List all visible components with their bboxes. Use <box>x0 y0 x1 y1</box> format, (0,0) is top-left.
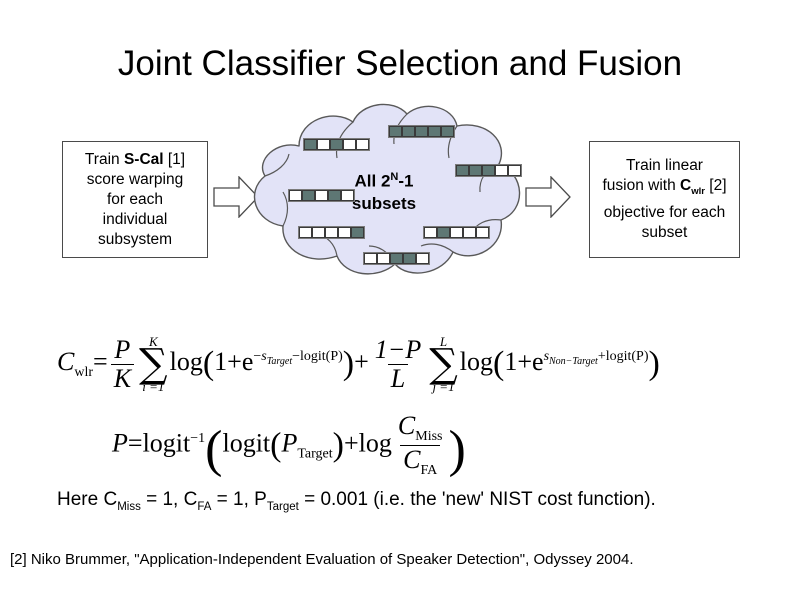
formula2-fraction-cmiss-over-cfa: CMissCFA <box>395 412 446 479</box>
formula2-log: log <box>359 428 392 457</box>
subset-cell-empty <box>424 227 437 238</box>
strip-top-center <box>388 125 455 138</box>
cloud-label-line1-suffix: -1 <box>398 172 413 191</box>
formula1-frac1-den: K <box>111 364 134 393</box>
subset-cell-selected <box>469 165 482 176</box>
strip-bottom-center <box>363 252 430 265</box>
slide-canvas: Joint Classifier Selection and Fusion Tr… <box>0 0 800 599</box>
here-sub-fa: FA <box>197 501 211 513</box>
formula2-frac-num-sub: Miss <box>415 429 442 444</box>
right-box-line2-bold: C <box>680 177 691 194</box>
formula2-logit-inv: logit <box>143 428 191 457</box>
subset-cell-empty <box>289 190 302 201</box>
parameter-values-line: Here CMiss = 1, CFA = 1, PTarget = 0.001… <box>57 489 656 513</box>
formula2-frac-num: CMiss <box>395 412 446 445</box>
subset-cell-selected <box>330 139 343 150</box>
formula1-exp1: −sTarget−logit(P) <box>253 349 342 364</box>
subset-cell-selected <box>302 190 315 201</box>
subset-cell-empty <box>341 190 354 201</box>
subset-cell-selected <box>351 227 364 238</box>
subset-cell-selected <box>304 139 317 150</box>
here-suffix: = 0.001 (i.e. the 'new' NIST cost functi… <box>299 489 656 510</box>
subset-cell-empty <box>364 253 377 264</box>
subset-cell-selected <box>456 165 469 176</box>
formula1-exp1-rest: −logit(P) <box>292 349 343 364</box>
formula2-lhs: P <box>112 428 128 457</box>
formula1-open-paren2: ( <box>493 345 504 382</box>
subset-cell-selected <box>441 126 454 137</box>
subset-cell-selected <box>415 126 428 137</box>
subset-cell-empty <box>463 227 476 238</box>
formula2-close-paren: ) <box>448 421 465 478</box>
formula-p: P=logit−1(logit(PTarget)+logCMissCFA) <box>112 412 466 479</box>
formula1-exp2-rest: +logit(P) <box>598 349 649 364</box>
formula1-log1: log <box>170 347 203 376</box>
formula2-open-paren: ( <box>205 421 222 478</box>
strip-mid-left <box>288 189 355 202</box>
subset-cell-empty <box>299 227 312 238</box>
formula1-close-paren2: ) <box>649 345 660 382</box>
formula1-sum2: L∑j =1 <box>429 335 458 393</box>
subset-cell-selected <box>390 253 403 264</box>
left-box-line4: individual <box>103 211 168 228</box>
arrow-right-block-right <box>525 176 571 223</box>
formula1-log2: log <box>460 347 493 376</box>
here-mid1: = 1, C <box>141 489 198 510</box>
formula1-frac2-num: 1−P <box>372 336 424 364</box>
subset-cell-empty <box>317 139 330 150</box>
formula2-equals: = <box>128 428 143 457</box>
left-box-line5: subsystem <box>98 231 172 248</box>
arrow-right-icon <box>525 176 571 218</box>
subset-cell-selected <box>328 190 341 201</box>
right-box-line2-subscript: wlr <box>691 187 705 198</box>
subset-cell-empty <box>495 165 508 176</box>
here-mid2: = 1, P <box>211 489 266 510</box>
formula2-frac-num-sym: C <box>398 411 415 440</box>
formula1-onepluse1: 1+e <box>214 347 253 376</box>
formula1-open-paren1: ( <box>203 345 214 382</box>
formula1-fraction-1mp-over-l: 1−PL <box>372 336 424 392</box>
right-box-line1: Train linear <box>626 157 703 174</box>
subset-cell-selected <box>403 253 416 264</box>
footnote-reference: [2] Niko Brummer, "Application-Independe… <box>10 551 634 568</box>
here-prefix: Here C <box>57 489 117 510</box>
right-box-line2-prefix: fusion with <box>602 177 680 194</box>
cloud-label-line1-prefix: All 2 <box>355 172 391 191</box>
left-process-box: Train S-Cal [1] score warping for each i… <box>62 141 208 258</box>
formula1-exp1-label: Target <box>267 356 292 367</box>
strip-bottom-left <box>298 226 365 239</box>
sigma-icon: ∑ <box>139 348 168 380</box>
formula1-close-paren1: ) <box>343 345 354 382</box>
left-box-line1-bold: S-Cal <box>124 151 164 168</box>
formula2-inner-logit: logit <box>222 428 270 457</box>
formula2-frac-den-sym: C <box>403 445 420 474</box>
formula2-inv-exponent: −1 <box>190 431 205 446</box>
subset-cell-empty <box>508 165 521 176</box>
here-sub-target: Target <box>267 501 299 513</box>
formula1-equals: = <box>93 347 108 376</box>
formula2-frac-den: CFA <box>400 445 440 479</box>
subset-cell-empty <box>416 253 429 264</box>
formula1-plus: + <box>354 347 369 376</box>
formula1-exp2: sNon−Target+logit(P) <box>544 349 649 364</box>
subset-cell-empty <box>312 227 325 238</box>
subset-cell-selected <box>482 165 495 176</box>
page-title: Joint Classifier Selection and Fusion <box>0 44 800 84</box>
formula2-ptarget: P <box>281 428 297 457</box>
left-box-line3: for each <box>107 191 163 208</box>
formula1-lhs: C <box>57 347 74 376</box>
subset-cell-selected <box>389 126 402 137</box>
formula2-plus: + <box>344 428 359 457</box>
right-box-text: Train linear fusion with Cwlr [2] object… <box>598 156 730 242</box>
subset-cell-selected <box>428 126 441 137</box>
formula2-inner-open-paren: ( <box>270 427 281 464</box>
subset-cell-empty <box>343 139 356 150</box>
formula1-lhs-subscript: wlr <box>74 365 93 380</box>
subset-cell-selected <box>437 227 450 238</box>
formula2-inner-close-paren: ) <box>333 427 344 464</box>
left-box-line1-suffix: [1] <box>164 151 186 168</box>
formula-cwlr: Cwlr=PKK∑i =1log(1+e−sTarget−logit(P))+1… <box>57 335 660 393</box>
subset-cell-selected <box>402 126 415 137</box>
left-box-line1-prefix: Train <box>85 151 124 168</box>
subset-cell-empty <box>476 227 489 238</box>
sigma-icon: ∑ <box>429 348 458 380</box>
formula2-ptarget-sub: Target <box>297 447 332 462</box>
subset-cell-empty <box>325 227 338 238</box>
right-box-line2-suffix: [2] <box>705 177 727 194</box>
formula1-sum1: K∑i =1 <box>139 335 168 393</box>
subset-cell-empty <box>450 227 463 238</box>
subset-cell-empty <box>356 139 369 150</box>
strip-right <box>455 164 522 177</box>
right-box-line3: objective for each <box>604 204 726 221</box>
subset-cell-empty <box>338 227 351 238</box>
formula1-frac2-den: L <box>388 364 408 393</box>
subset-cell-empty <box>377 253 390 264</box>
formula1-exp2-label: Non−Target <box>549 356 598 367</box>
formula1-fraction-p-over-k: PK <box>111 336 134 392</box>
formula1-sum1-lower: i =1 <box>142 380 164 393</box>
right-process-box: Train linear fusion with Cwlr [2] object… <box>589 141 740 258</box>
formula1-onepluse2: 1+e <box>504 347 543 376</box>
right-box-line4: subset <box>642 224 688 241</box>
formula2-frac-den-sub: FA <box>420 463 437 478</box>
left-box-line2: score warping <box>87 171 184 188</box>
formula1-sum2-lower: j =1 <box>432 380 454 393</box>
formula1-frac1-num: P <box>111 336 133 364</box>
here-sub-miss: Miss <box>117 501 141 513</box>
cloud-label-line2: subsets <box>352 194 416 213</box>
left-box-text: Train S-Cal [1] score warping for each i… <box>81 150 189 250</box>
strip-bottom-right <box>423 226 490 239</box>
strip-upper-left <box>303 138 370 151</box>
subset-cell-empty <box>315 190 328 201</box>
